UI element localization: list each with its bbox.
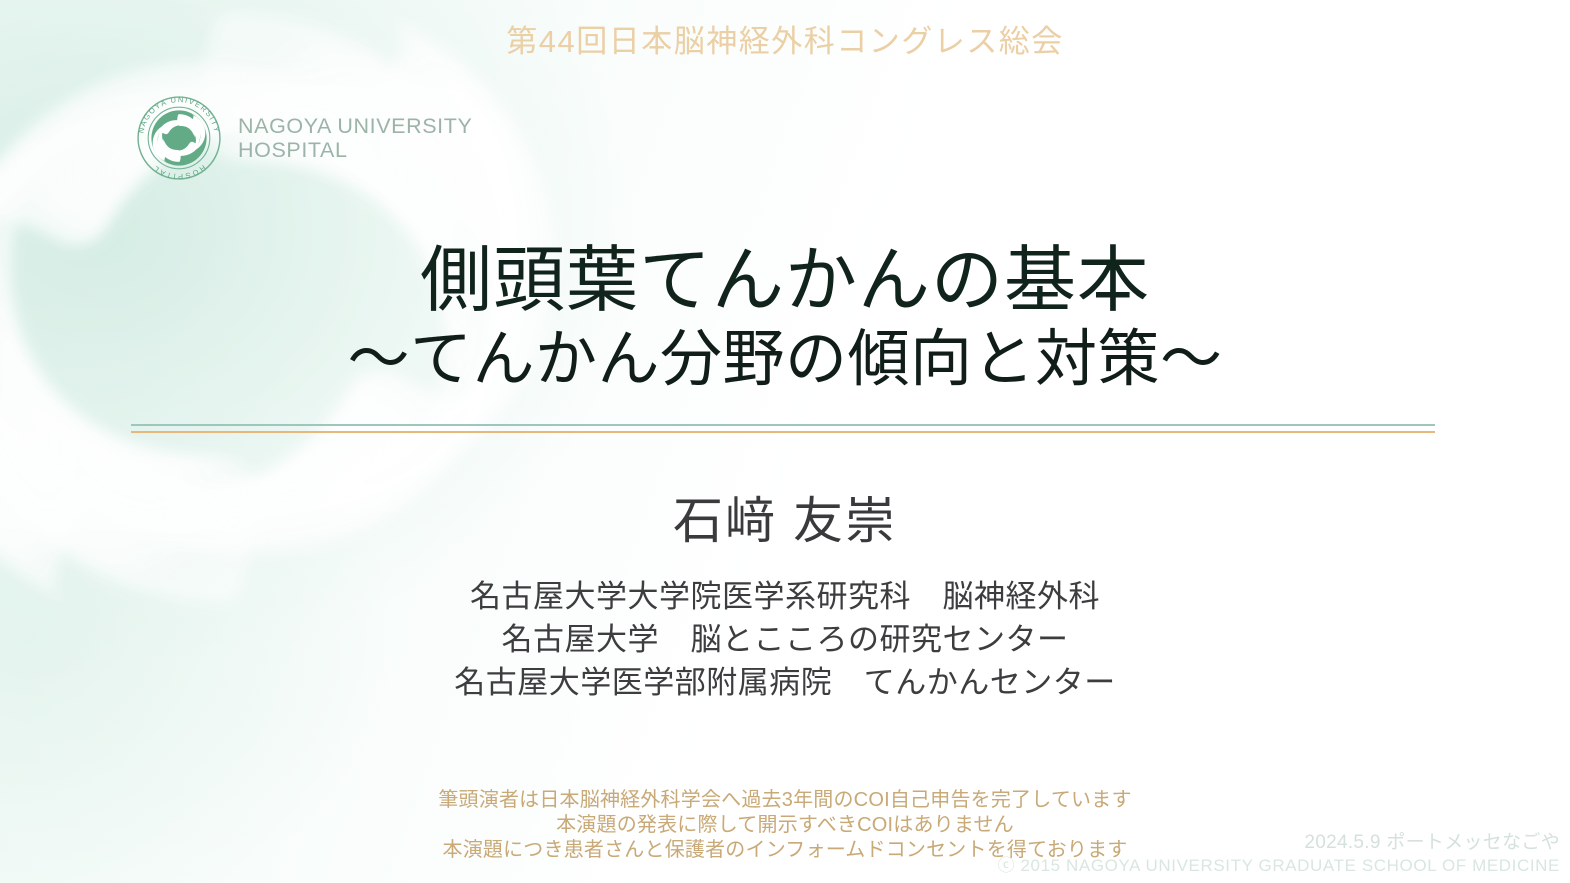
divider-line-teal xyxy=(131,424,1435,426)
presenter-name: 石﨑 友崇 xyxy=(0,481,1570,553)
section-divider xyxy=(131,424,1435,435)
slide-subtitle: 〜てんかん分野の傾向と対策〜 xyxy=(0,327,1570,393)
affiliation-line: 名古屋大学大学院医学系研究科 脳神経外科 xyxy=(0,575,1570,618)
footer-venue-date: 2024.5.9 ポートメッセなごや xyxy=(998,831,1560,855)
affiliation-line: 名古屋大学 脳とこころの研究センター xyxy=(0,618,1570,661)
footer-copyright: ⓒ 2015 NAGOYA UNIVERSITY GRADUATE SCHOOL… xyxy=(998,855,1560,877)
coi-line: 筆頭演者は日本脳神経外科学会へ過去3年間のCOI自己申告を完了しています xyxy=(0,788,1570,813)
svg-text:HOSPITAL: HOSPITAL xyxy=(151,163,208,181)
divider-line-orange xyxy=(131,431,1435,433)
hospital-wordmark-line2: HOSPITAL xyxy=(238,138,472,162)
hospital-wordmark-line1: NAGOYA UNIVERSITY xyxy=(238,114,472,138)
affiliation-list: 名古屋大学大学院医学系研究科 脳神経外科 名古屋大学 脳とこころの研究センター … xyxy=(0,575,1570,704)
hospital-logo-lockup: NAGOYA UNIVERSITY HOSPITAL NAGOYA UNIVER… xyxy=(133,92,472,184)
slide-footer: 2024.5.9 ポートメッセなごや ⓒ 2015 NAGOYA UNIVERS… xyxy=(998,831,1560,877)
presentation-slide: 第44回日本脳神経外科コングレス総会 NAGOYA UNIVERSITY HOS… xyxy=(0,0,1570,883)
title-block: 側頭葉てんかんの基本 〜てんかん分野の傾向と対策〜 xyxy=(0,243,1570,393)
nagoya-university-hospital-seal-icon: NAGOYA UNIVERSITY HOSPITAL xyxy=(133,92,225,184)
conference-header: 第44回日本脳神経外科コングレス総会 xyxy=(0,16,1570,61)
hospital-wordmark: NAGOYA UNIVERSITY HOSPITAL xyxy=(238,114,472,162)
slide-title: 側頭葉てんかんの基本 xyxy=(0,243,1570,319)
affiliation-line: 名古屋大学医学部附属病院 てんかんセンター xyxy=(0,661,1570,704)
